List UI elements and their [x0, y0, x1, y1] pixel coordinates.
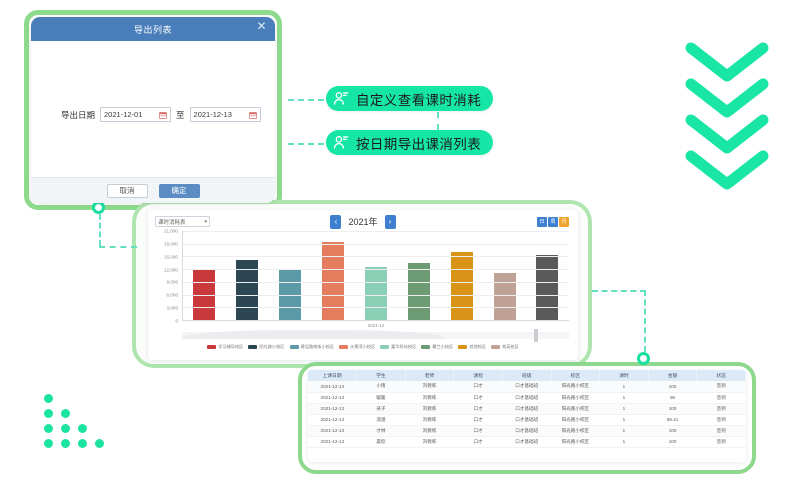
y-axis-tick: 9,000: [167, 280, 179, 285]
legend-item[interactable]: 水景湾小校区: [339, 344, 375, 350]
export-dialog: 导出列表 ✕ 导出日期 2021-12-01 至 20: [31, 17, 275, 203]
decorative-dot-grid: [44, 394, 134, 456]
range-toggle-1[interactable]: 周: [548, 217, 558, 227]
range-toggle-0[interactable]: 日: [537, 217, 547, 227]
chart-filter-select[interactable]: 课时消耗表 ▾: [155, 216, 210, 227]
y-axis-tick: 6,000: [167, 293, 179, 298]
table-cell: 100: [648, 381, 697, 392]
legend-item[interactable]: 嘉华科技校区: [380, 344, 416, 350]
table-row[interactable]: 2021-12-13才林刘教练口才口才基础班阳光路小校区1100签到: [308, 425, 746, 436]
gridline: [183, 295, 569, 296]
gridline: [183, 282, 569, 283]
table-cell: 刘教练: [405, 414, 454, 425]
decorative-dot: [44, 409, 53, 418]
table-cell: 口才: [454, 414, 503, 425]
dialog-footer: 取消 确定: [31, 177, 275, 203]
table-head: 上课日期学生老师课程班级校区课时金额状态: [308, 370, 746, 381]
table-cell: 口才: [454, 403, 503, 414]
table-row[interactable]: 2021-12-13淑涵刘教练口才口才基础班阳光路小校区166.41签到: [308, 414, 746, 425]
callout-pill-2[interactable]: 按日期导出课消列表: [326, 130, 493, 155]
table-cell: 1: [600, 392, 649, 403]
decorative-dot: [95, 439, 104, 448]
calendar-icon[interactable]: [159, 111, 167, 119]
connector-line-dialog-h: [99, 246, 137, 248]
decorative-dot: [61, 409, 70, 418]
chart-x-label: 2021-12: [183, 323, 569, 328]
table-column-header: 学生: [357, 370, 406, 381]
scrollbar-preview: [182, 330, 445, 339]
calendar-icon[interactable]: [249, 111, 257, 119]
table-cell: 刘教练: [405, 403, 454, 414]
confirm-button[interactable]: 确定: [159, 184, 200, 198]
table-cell: 阳光路小校区: [551, 381, 600, 392]
table-column-header: 老师: [405, 370, 454, 381]
decorative-dot: [44, 394, 53, 403]
table-cell: 签到: [697, 436, 746, 447]
chart-year-label: 2021年: [348, 215, 377, 228]
connector-line-dialog: [99, 214, 101, 246]
gridline: [183, 231, 569, 232]
range-toggle-2[interactable]: 月: [559, 217, 569, 227]
table-cell: 2021-12-13: [308, 381, 357, 392]
table-cell: 阳光路小校区: [551, 403, 600, 414]
table-cell: 口才基础班: [502, 381, 551, 392]
legend-label: 学习辅导校区: [218, 344, 243, 350]
y-axis-tick: 18,000: [164, 241, 178, 246]
connector-line-table: [644, 290, 646, 352]
table-cell: 口才: [454, 425, 503, 436]
gridline: [183, 256, 569, 257]
chart-scrollbar[interactable]: [182, 329, 569, 341]
connector-line-table-h: [592, 290, 646, 292]
table-column-header: 校区: [551, 370, 600, 381]
table-cell: 100: [648, 425, 697, 436]
table-cell: 签到: [697, 392, 746, 403]
chart-panel: 课时消耗表 ▾ ‹ 2021年 › 日周月 21,00018,00015,000…: [148, 210, 578, 360]
legend-label: 建设路南街小校区: [301, 344, 335, 350]
table-cell: 阳光路小校区: [551, 414, 600, 425]
y-axis-tick: 12,000: [164, 267, 178, 272]
legend-item[interactable]: 阳光路小校区: [248, 344, 284, 350]
legend-swatch: [380, 345, 389, 350]
y-axis-tick: 21,000: [164, 229, 178, 234]
legend-swatch: [491, 345, 500, 350]
table-cell: 口才: [454, 392, 503, 403]
decorative-dot: [44, 439, 53, 448]
table-cell: 口才: [454, 436, 503, 447]
table-cell: 阳光路小校区: [551, 392, 600, 403]
table-cell: 2021-12-13: [308, 425, 357, 436]
table-cell: 1: [600, 425, 649, 436]
table-cell: 100: [648, 436, 697, 447]
chart-bar[interactable]: [536, 255, 558, 320]
legend-swatch: [248, 345, 257, 350]
chart-range-toggle: 日周月: [537, 217, 569, 227]
chart-filter-value: 课时消耗表: [158, 218, 186, 226]
decorative-dot: [61, 439, 70, 448]
table-column-header: 课程: [454, 370, 503, 381]
table-cell: 晨欣: [357, 436, 406, 447]
table-row[interactable]: 2021-12-13小雨刘教练口才口才基础班阳光路小校区1100签到: [308, 381, 746, 392]
user-profile-icon: [331, 133, 350, 152]
start-date-field[interactable]: 2021-12-01: [100, 107, 171, 122]
close-icon[interactable]: ✕: [256, 20, 267, 32]
decorative-dot: [78, 439, 87, 448]
table-body: 2021-12-13小雨刘教练口才口才基础班阳光路小校区1100签到2021-1…: [308, 381, 746, 447]
table-cell: 刘教练: [405, 392, 454, 403]
table-cell: 刘教练: [405, 436, 454, 447]
table-cell: 2021-12-13: [308, 403, 357, 414]
table-cell: 淑涵: [357, 414, 406, 425]
chart-year-nav: ‹ 2021年 ›: [311, 215, 416, 229]
table-cell: 阳光路小校区: [551, 436, 600, 447]
table-cell: 朵子: [357, 403, 406, 414]
export-date-row: 导出日期 2021-12-01 至 2021-12-13: [61, 107, 261, 122]
records-table: 上课日期学生老师课程班级校区课时金额状态 2021-12-13小雨刘教练口才口才…: [308, 370, 746, 448]
legend-label: 育英校区: [502, 344, 519, 350]
table-cell: 才林: [357, 425, 406, 436]
table-cell: 2021-12-13: [308, 414, 357, 425]
table-cell: 签到: [697, 381, 746, 392]
table-cell: 100: [648, 403, 697, 414]
legend-swatch: [421, 345, 430, 350]
legend-label: 阳光路小校区: [259, 344, 284, 350]
table-cell: 小雨: [357, 381, 406, 392]
legend-label: 嘉华科技校区: [391, 344, 416, 350]
table-cell: 口才基础班: [502, 425, 551, 436]
chevron-down-icon: [683, 148, 771, 192]
gridline: [183, 244, 569, 245]
decorative-dot: [78, 424, 87, 433]
legend-swatch: [207, 345, 216, 350]
table-cell: 刘教练: [405, 425, 454, 436]
chart-grid: 2021-12: [182, 231, 569, 321]
table-cell: 签到: [697, 403, 746, 414]
connector-line-callout-1: [288, 99, 324, 101]
callout-pill-1[interactable]: 自定义查看课时消耗: [326, 86, 493, 111]
legend-item[interactable]: 幕兰小校区: [421, 344, 453, 350]
chart-bar[interactable]: [365, 267, 387, 320]
chart-bar[interactable]: [408, 263, 430, 320]
table-cell: 1: [600, 381, 649, 392]
start-date-value: 2021-12-01: [104, 110, 157, 119]
y-axis-tick: 0: [175, 319, 178, 324]
table-cell: 1: [600, 436, 649, 447]
chart-bar[interactable]: [451, 252, 473, 320]
gridline: [183, 269, 569, 270]
connector-line-callouts-join: [437, 112, 439, 130]
chart-bar[interactable]: [494, 273, 516, 320]
gridline: [183, 307, 569, 308]
chart-y-axis: 21,00018,00015,00012,0009,0006,0003,0000: [155, 231, 181, 321]
chart-legend: 学习辅导校区阳光路小校区建设路南街小校区水景湾小校区嘉华科技校区幕兰小校区其他校…: [155, 344, 571, 350]
table-cell: 66.41: [648, 414, 697, 425]
table-cell: 阳光路小校区: [551, 425, 600, 436]
legend-swatch: [290, 345, 299, 350]
legend-item[interactable]: 其他校区: [458, 344, 486, 350]
user-profile-icon: [331, 89, 350, 108]
chevron-left-icon[interactable]: ‹: [330, 215, 341, 229]
decorative-dot: [44, 424, 53, 433]
legend-label: 水景湾小校区: [350, 344, 375, 350]
connector-line-callout-2: [288, 143, 324, 145]
table-cell: 口才: [454, 381, 503, 392]
end-date-value: 2021-12-13: [194, 110, 247, 119]
table-cell: 口才基础班: [502, 392, 551, 403]
screenshot-root: 导出列表 ✕ 导出日期 2021-12-01 至 20: [0, 0, 800, 500]
date-range-separator: 至: [176, 109, 185, 121]
table-cell: 刘教练: [405, 381, 454, 392]
legend-label: 其他校区: [469, 344, 486, 350]
table-cell: 1: [600, 403, 649, 414]
records-table-panel: 上课日期学生老师课程班级校区课时金额状态 2021-12-13小雨刘教练口才口才…: [308, 370, 746, 462]
table-cell: 口才基础班: [502, 414, 551, 425]
legend-swatch: [339, 345, 348, 350]
table-cell: 2021-12-13: [308, 436, 357, 447]
table-column-header: 上课日期: [308, 370, 357, 381]
chart-toolbar: 课时消耗表 ▾ ‹ 2021年 › 日周月: [155, 215, 571, 228]
table-column-header: 金额: [648, 370, 697, 381]
chevron-right-icon[interactable]: ›: [385, 215, 396, 229]
export-date-label: 导出日期: [61, 109, 95, 121]
legend-item[interactable]: 建设路南街小校区: [290, 344, 335, 350]
table-cell: 签到: [697, 414, 746, 425]
legend-swatch: [458, 345, 467, 350]
table-cell: 96: [648, 392, 697, 403]
table-row[interactable]: 2021-12-13朵子刘教练口才口才基础班阳光路小校区1100签到: [308, 403, 746, 414]
scrollbar-handle[interactable]: [534, 329, 538, 342]
table-row[interactable]: 2021-12-13晨欣刘教练口才口才基础班阳光路小校区1100签到: [308, 436, 746, 447]
legend-item[interactable]: 学习辅导校区: [207, 344, 243, 350]
dialog-body: 导出日期 2021-12-01 至 2021-12-13: [31, 41, 275, 177]
callout-label: 按日期导出课消列表: [356, 133, 481, 153]
connector-knob-table: [637, 352, 650, 365]
chevron-down-icon: ▾: [204, 219, 207, 225]
end-date-field[interactable]: 2021-12-13: [190, 107, 261, 122]
table-column-header: 状态: [697, 370, 746, 381]
decorative-dot: [61, 424, 70, 433]
y-axis-tick: 15,000: [164, 254, 178, 259]
legend-label: 幕兰小校区: [432, 344, 453, 350]
table-cell: 1: [600, 414, 649, 425]
table-cell: 暖暖: [357, 392, 406, 403]
table-cell: 签到: [697, 425, 746, 436]
table-row[interactable]: 2021-12-13暖暖刘教练口才口才基础班阳光路小校区196签到: [308, 392, 746, 403]
table-header-row: 上课日期学生老师课程班级校区课时金额状态: [308, 370, 746, 381]
cancel-button[interactable]: 取消: [107, 184, 148, 198]
callout-label: 自定义查看课时消耗: [356, 89, 481, 109]
chart-plot-area: 21,00018,00015,00012,0009,0006,0003,0000…: [155, 231, 571, 321]
dialog-header: 导出列表 ✕: [31, 17, 275, 41]
dialog-title: 导出列表: [134, 23, 172, 36]
legend-item[interactable]: 育英校区: [491, 344, 519, 350]
table-cell: 口才基础班: [502, 403, 551, 414]
decorative-chevron-stack: [683, 40, 775, 185]
y-axis-tick: 3,000: [167, 306, 179, 311]
table-column-header: 班级: [502, 370, 551, 381]
table-column-header: 课时: [600, 370, 649, 381]
table-cell: 口才基础班: [502, 436, 551, 447]
table-cell: 2021-12-13: [308, 392, 357, 403]
